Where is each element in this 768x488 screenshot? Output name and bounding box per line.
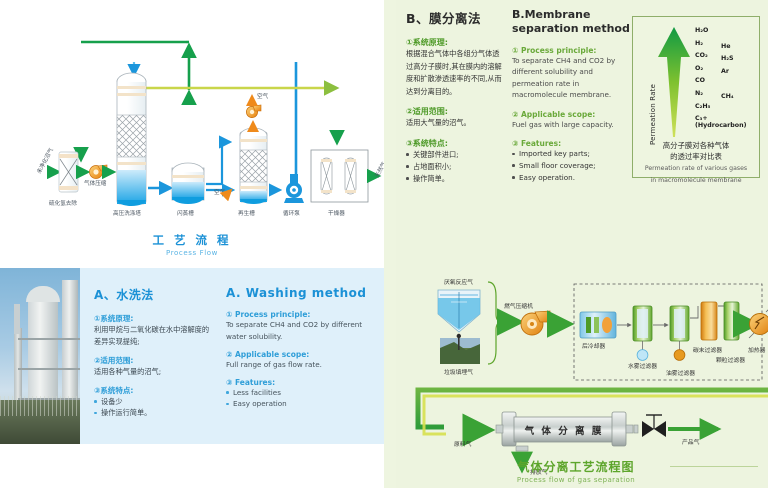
- oil-mist-filter-icon: [670, 306, 689, 360]
- label-air-mid: 空气: [214, 188, 226, 196]
- gas-name-left: CO: [695, 77, 705, 84]
- permeation-arrow-icon: [657, 27, 691, 137]
- membrane-en-s1-body: To separate CH4 and CO2 by different sol…: [512, 55, 630, 101]
- washing-en-column: A. Washing method ① Process principle: T…: [226, 286, 376, 444]
- membrane-cn-s2-body: 适用大气量的沼气。: [406, 117, 504, 130]
- washing-en-s1-title: ① Process principle:: [226, 310, 376, 319]
- regeneration-tank: [240, 128, 267, 204]
- plant-photo: [0, 268, 80, 444]
- label-landfill-gas: 垃圾填埋气: [444, 368, 473, 376]
- label-washing-column: 高压洗涤塔: [113, 209, 141, 217]
- gas-permeation-list: H₂O H₂He CO₂H₂S O₂Ar CO N₂CH₄ C₂H₅ C₃+(H…: [695, 27, 759, 128]
- pipe-flash-to-regen: [206, 142, 230, 184]
- label-regeneration-tank: 再生槽: [238, 209, 255, 217]
- gas-name-right: Ar: [721, 68, 729, 75]
- gas-name-right: He: [721, 43, 731, 50]
- washing-en-s2-title: ② Applicable scope:: [226, 350, 376, 359]
- membrane-en-s3-title: ③ Features:: [512, 139, 630, 148]
- gas-separation-title-en: Process flow of gas separation: [384, 476, 768, 484]
- gas-name-right: H₂S: [721, 55, 734, 62]
- gas-row: CO: [695, 77, 759, 90]
- list-item: Less facilities: [226, 387, 376, 399]
- permeation-caption-cn-2: 的透过率对比表: [637, 152, 755, 163]
- gas-row: CO₂H₂S: [695, 52, 759, 65]
- gas-separation-title-cn: 气体分离工艺流程图: [384, 458, 768, 475]
- label-anaerobic-gas: 厌氧反应气: [444, 278, 473, 286]
- digester-icon: [438, 290, 480, 332]
- membrane-en-column: B.Membrane separation method ① Process p…: [512, 8, 630, 198]
- label-water-mist-filter: 水雾过滤器: [628, 362, 657, 370]
- membrane-cn-column: B、膜分离法 ①系统原理: 根据混合气体中各组分气体透过高分子膜时,其在膜内的溶…: [406, 8, 504, 198]
- permeation-caption-en-2: in macromolecule membrane: [637, 177, 755, 186]
- label-h2s-removal: 硫化氢去除: [49, 199, 77, 207]
- membrane-en-s1-title: ① Process principle:: [512, 46, 630, 55]
- inlet-gas-label: 未净化沼气: [35, 146, 55, 175]
- high-pressure-washing-column: [117, 73, 146, 206]
- valve-flange: [634, 425, 638, 433]
- water-mist-filter-icon: [633, 306, 652, 360]
- outlet-gas-label: 天然气: [373, 160, 384, 179]
- washing-en-s1-body: To separate CH4 and CO2 by different wat…: [226, 319, 376, 343]
- label-air-top: 空气: [257, 92, 269, 100]
- washing-cn-s2-title: ②适用范围:: [94, 355, 212, 366]
- gas-name-left: C₃+(Hydrocarbon): [695, 115, 759, 129]
- label-product-gas: 产品气: [682, 438, 700, 446]
- permeation-caption-en-1: Permeation rate of various gases: [637, 165, 755, 174]
- washing-heading-cn: A、水洗法: [94, 286, 212, 303]
- circulation-pump: [284, 174, 304, 203]
- membrane-cn-s3-title: ③系统特点:: [406, 138, 504, 149]
- conn-oil-to-carbon: [690, 306, 698, 318]
- gas-compressor-icon: [521, 311, 550, 335]
- washing-cn-s3-title: ③系统特点:: [94, 385, 212, 396]
- label-circulation-pump: 循环泵: [283, 209, 300, 217]
- process-flow-diagram: 未净化沼气 硫化氢去除 气体压缩: [0, 0, 384, 262]
- membrane-cn-s1-title: ①系统原理:: [406, 37, 504, 48]
- label-flash-tank: 闪蒸槽: [177, 209, 194, 217]
- washing-en-s3-title: ③ Features:: [226, 378, 376, 387]
- label-carbon-filter: 碳末过滤器: [693, 346, 722, 354]
- list-item: Easy operation: [226, 398, 376, 410]
- process-flow-title: 工 艺 流 程 Process Flow: [0, 232, 384, 257]
- list-item: 占地面积小;: [406, 161, 504, 173]
- membrane-en-s2-body: Fuel gas with large capacity.: [512, 119, 630, 131]
- gas-separation-title: 气体分离工艺流程图 Process flow of gas separation: [384, 458, 768, 484]
- washing-cn-s2-body: 适用各种气量的沼气;: [94, 366, 212, 378]
- left-page: 未净化沼气 硫化氢去除 气体压缩: [0, 0, 384, 488]
- permeation-rate-box: Permeation Rate H₂O H₂He C: [632, 16, 760, 178]
- membrane-heading-en: B.Membrane separation method: [512, 8, 630, 36]
- membrane-module: 气 体 分 离 膜: [496, 412, 633, 451]
- list-item: 操作运行简单。: [94, 407, 212, 419]
- label-heater: 加热器: [748, 346, 766, 354]
- membrane-en-s2-title: ② Applicable scope:: [512, 110, 630, 119]
- label-feed-gas: 原料气: [454, 440, 472, 448]
- label-dryer: 干燥器: [328, 209, 345, 217]
- process-flow-title-en: Process Flow: [0, 249, 384, 257]
- right-page: B、膜分离法 ①系统原理: 根据混合气体中各组分气体透过高分子膜时,其在膜内的溶…: [384, 0, 768, 488]
- washing-cn-column: A、水洗法 ①系统原理: 利用甲烷与二氧化碳在水中溶解度的差异实现提纯; ②适用…: [94, 286, 212, 444]
- label-after-cooler: 后冷却器: [582, 342, 605, 350]
- washing-en-s2-body: Full range of gas flow rate.: [226, 359, 376, 371]
- washing-cn-s1-title: ①系统原理:: [94, 313, 212, 324]
- list-item: Small floor coverage;: [512, 160, 630, 172]
- pipe-blue-recycle: [134, 62, 296, 175]
- heater-group: [749, 308, 768, 338]
- membrane-cn-s1-body: 根据混合气体中各组分气体透过高分子膜时,其在膜内的溶解度和扩散渗透速率的不同,从…: [406, 48, 504, 98]
- membrane-cn-s2-title: ②适用范围:: [406, 106, 504, 117]
- valve-icon: [642, 415, 666, 437]
- h2s-removal-vessel: [59, 152, 78, 192]
- list-item: 设备少: [94, 396, 212, 408]
- gas-row: C₂H₅: [695, 103, 759, 116]
- dryer-unit: [311, 150, 368, 202]
- washing-method-block: A、水洗法 ①系统原理: 利用甲烷与二氧化碳在水中溶解度的差异实现提纯; ②适用…: [0, 268, 384, 444]
- particle-filter-icon: [724, 302, 739, 340]
- gas-name-left: H₂O: [695, 27, 708, 34]
- label-particle-filter: 颗粒过滤器: [716, 356, 745, 364]
- membrane-heading-cn: B、膜分离法: [406, 8, 504, 27]
- list-item: 操作简单。: [406, 173, 504, 185]
- after-cooler-icon: [580, 312, 616, 338]
- gas-separation-diagram: 厌氧反应气 垃圾填埋气: [396, 262, 768, 488]
- gas-name-left: N₂: [695, 90, 703, 97]
- flash-tank: [172, 163, 204, 204]
- landfill-photo-icon: [440, 334, 480, 364]
- source-brace: [488, 282, 502, 364]
- process-flow-title-cn: 工 艺 流 程: [0, 232, 384, 248]
- gas-row: H₂O: [695, 27, 759, 40]
- brochure-spread: 未净化沼气 硫化氢去除 气体压缩: [0, 0, 768, 488]
- list-item: Easy operation.: [512, 172, 630, 184]
- gas-name-left: H₂: [695, 40, 703, 47]
- label-gas-compressor: 燃气压缩机: [504, 302, 533, 310]
- gas-row: O₂Ar: [695, 65, 759, 78]
- list-item: 关键部件进口;: [406, 149, 504, 161]
- permeation-caption: 高分子膜对各种气体 的透过率对比表 Permeation rate of var…: [637, 141, 755, 186]
- permeation-axis-label: Permeation Rate: [639, 33, 651, 145]
- list-item: Imported key parts;: [512, 148, 630, 160]
- permeation-caption-cn-1: 高分子膜对各种气体: [637, 141, 755, 152]
- carbon-filter-icon: [701, 302, 717, 340]
- washing-heading-en: A. Washing method: [226, 286, 376, 300]
- label-gas-compression: 气体压缩: [84, 179, 107, 187]
- gas-row: C₃+(Hydrocarbon): [695, 115, 759, 128]
- gas-name-left: CO₂: [695, 52, 708, 59]
- air-blower: [246, 105, 261, 118]
- membrane-module-label: 气 体 分 离 膜: [524, 425, 604, 437]
- gas-name-right: CH₄: [721, 93, 734, 100]
- label-oil-mist-filter: 油雾过滤器: [666, 369, 695, 377]
- gas-name-left: C₂H₅: [695, 103, 710, 110]
- washing-cn-s1-body: 利用甲烷与二氧化碳在水中溶解度的差异实现提纯;: [94, 324, 212, 348]
- gas-row: H₂He: [695, 40, 759, 53]
- gas-row: N₂CH₄: [695, 90, 759, 103]
- permeation-axis-text: Permeation Rate: [649, 84, 657, 145]
- gas-name-left: O₂: [695, 65, 703, 72]
